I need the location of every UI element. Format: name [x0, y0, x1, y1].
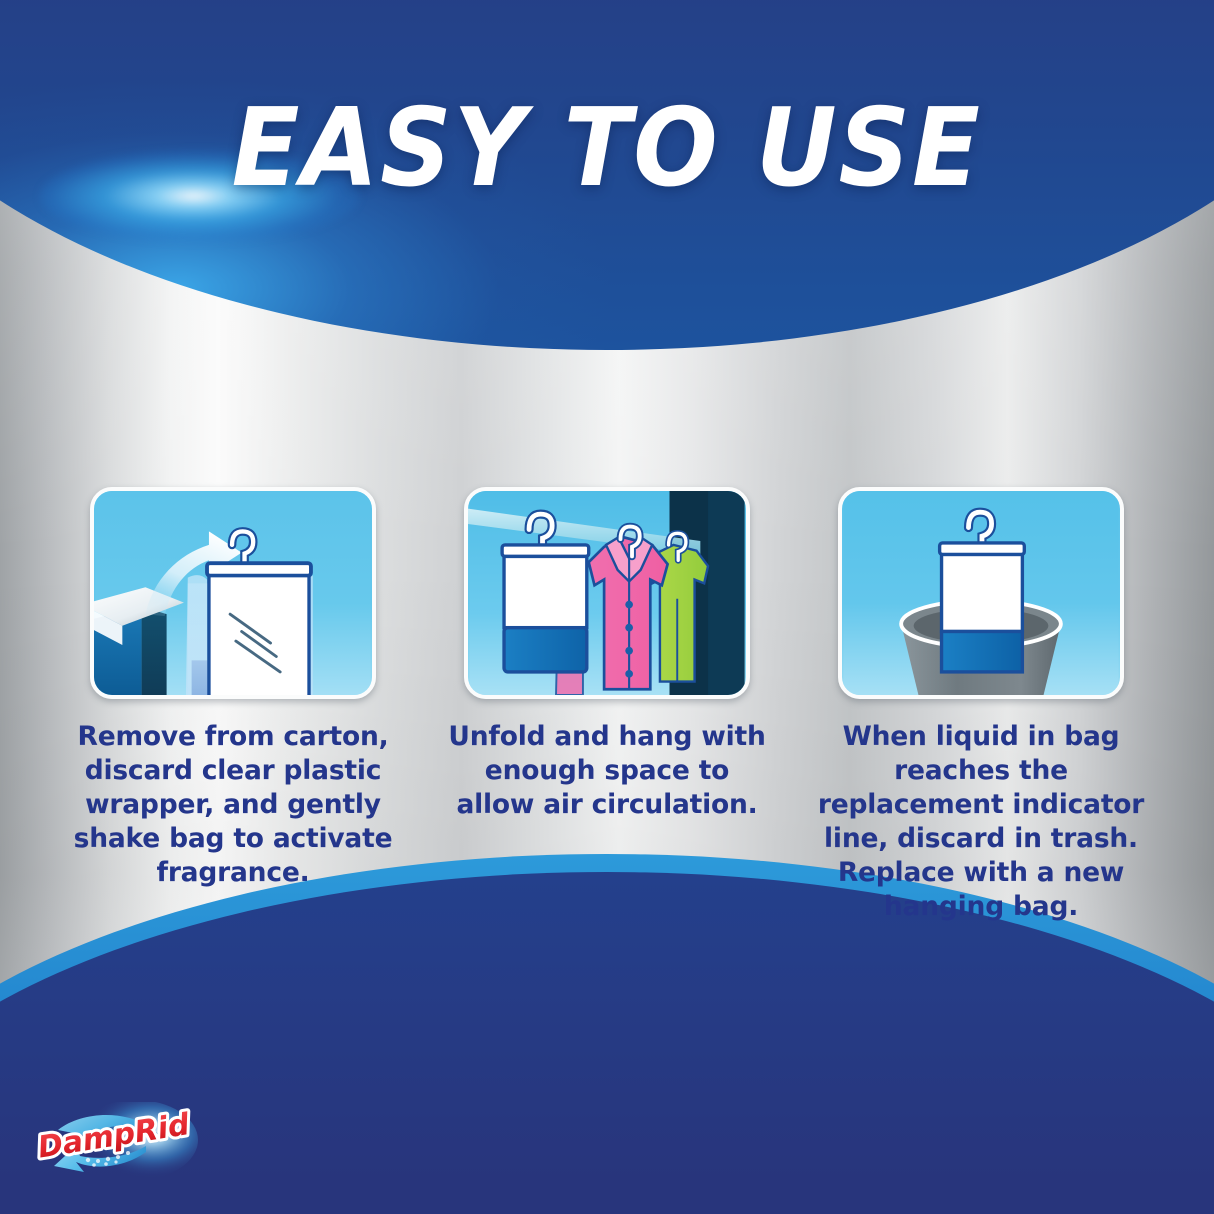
page-title-wrap: EASY TO USE — [0, 92, 1214, 205]
poster-canvas: EASY TO USE — [0, 0, 1214, 1214]
step-2: Unfold and hang with enough space to all… — [459, 487, 755, 822]
remove-from-carton-illustration — [90, 487, 376, 699]
step-3-caption: When liquid in bag reaches the replaceme… — [808, 720, 1154, 923]
step-2-caption: Unfold and hang with enough space to all… — [442, 720, 772, 822]
discard-in-trash-illustration — [838, 487, 1124, 699]
step-3: When liquid in bag reaches the replaceme… — [833, 487, 1129, 923]
step-1-caption: Remove from carton, discard clear plasti… — [68, 720, 398, 890]
step-1: Remove from carton, discard clear plasti… — [85, 487, 381, 890]
hang-in-closet-illustration — [464, 487, 750, 699]
damprid-logo[interactable]: DampRid DampRid — [28, 1102, 198, 1188]
page-title: EASY TO USE — [232, 92, 982, 205]
instruction-steps: Remove from carton, discard clear plasti… — [0, 487, 1214, 923]
